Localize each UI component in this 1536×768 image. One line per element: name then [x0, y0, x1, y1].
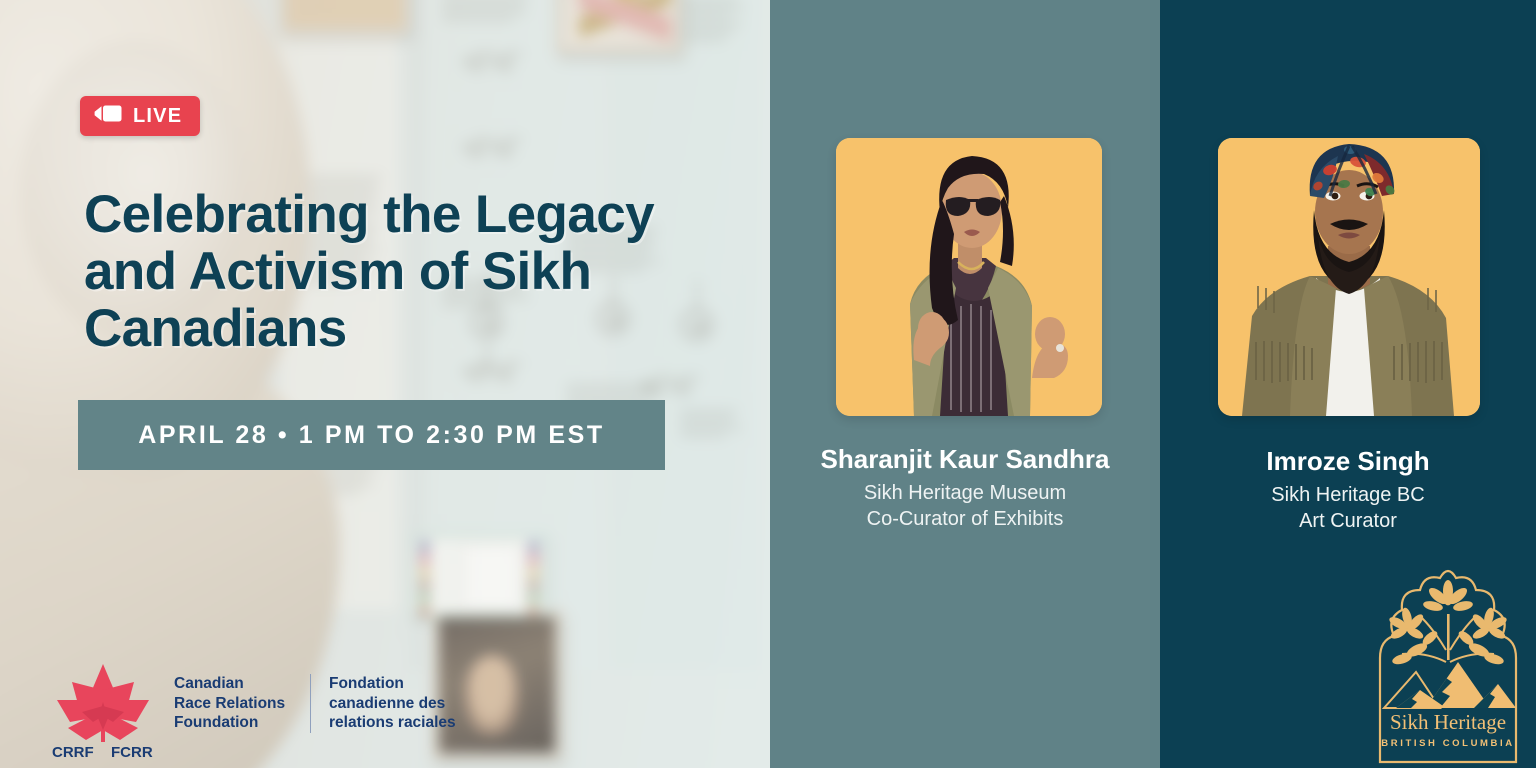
speaker-2-role: Art Curator	[1160, 510, 1536, 533]
sikh-heritage-logo-subtitle: BRITISH COLUMBIA	[1362, 738, 1534, 749]
crrf-acronym-fr: FCRR	[111, 744, 153, 760]
page-title: Celebrating the Legacy and Activism of S…	[84, 186, 774, 357]
speaker-2-photo	[1218, 138, 1480, 416]
crrf-en-line-2: Race Relations	[174, 694, 310, 714]
crrf-fr-line-2: canadienne des	[329, 694, 480, 714]
title-line-3: Canadians	[84, 300, 774, 357]
crrf-logo: CRRF FCRR Canadian Race Relations Founda…	[50, 660, 480, 760]
speaker-panel-1: Sharanjit Kaur Sandhra Sikh Heritage Mus…	[770, 0, 1160, 768]
speaker-1-org: Sikh Heritage Museum	[770, 482, 1160, 505]
crrf-fr-line-3: relations raciales	[329, 713, 480, 733]
red-maple-leaf-icon: CRRF FCRR	[50, 660, 156, 760]
video-camera-icon	[94, 105, 122, 127]
event-date-time-banner: APRIL 28 • 1 PM TO 2:30 PM EST	[78, 400, 665, 470]
sikh-heritage-logo-name: Sikh Heritage	[1362, 710, 1534, 735]
title-line-2: and Activism of Sikh	[84, 243, 774, 300]
crrf-name-french: Fondation canadienne des relations racia…	[310, 674, 480, 733]
sikh-heritage-bc-logo: Sikh Heritage BRITISH COLUMBIA	[1362, 566, 1534, 766]
live-badge: LIVE	[80, 96, 200, 136]
speaker-2-name: Imroze Singh	[1160, 446, 1536, 477]
promo-banner: ੴੴ ੴੴ ੴੴ ੴੴ	[0, 0, 1536, 768]
title-line-1: Celebrating the Legacy	[84, 186, 774, 243]
crrf-fr-line-1: Fondation	[329, 674, 480, 694]
speaker-1-photo	[836, 138, 1102, 416]
event-date-time-text: APRIL 28 • 1 PM TO 2:30 PM EST	[138, 421, 605, 450]
crrf-acronym-en: CRRF	[52, 744, 94, 760]
arch-with-flowers-and-mountains-icon	[1362, 566, 1534, 766]
speaker-1-name: Sharanjit Kaur Sandhra	[770, 444, 1160, 475]
crrf-en-line-3: Foundation	[174, 713, 310, 733]
speaker-1-role: Co-Curator of Exhibits	[770, 508, 1160, 531]
live-badge-label: LIVE	[133, 105, 182, 128]
speaker-2-org: Sikh Heritage BC	[1160, 484, 1536, 507]
crrf-en-line-1: Canadian	[174, 674, 310, 694]
crrf-name-english: Canadian Race Relations Foundation	[174, 674, 310, 733]
